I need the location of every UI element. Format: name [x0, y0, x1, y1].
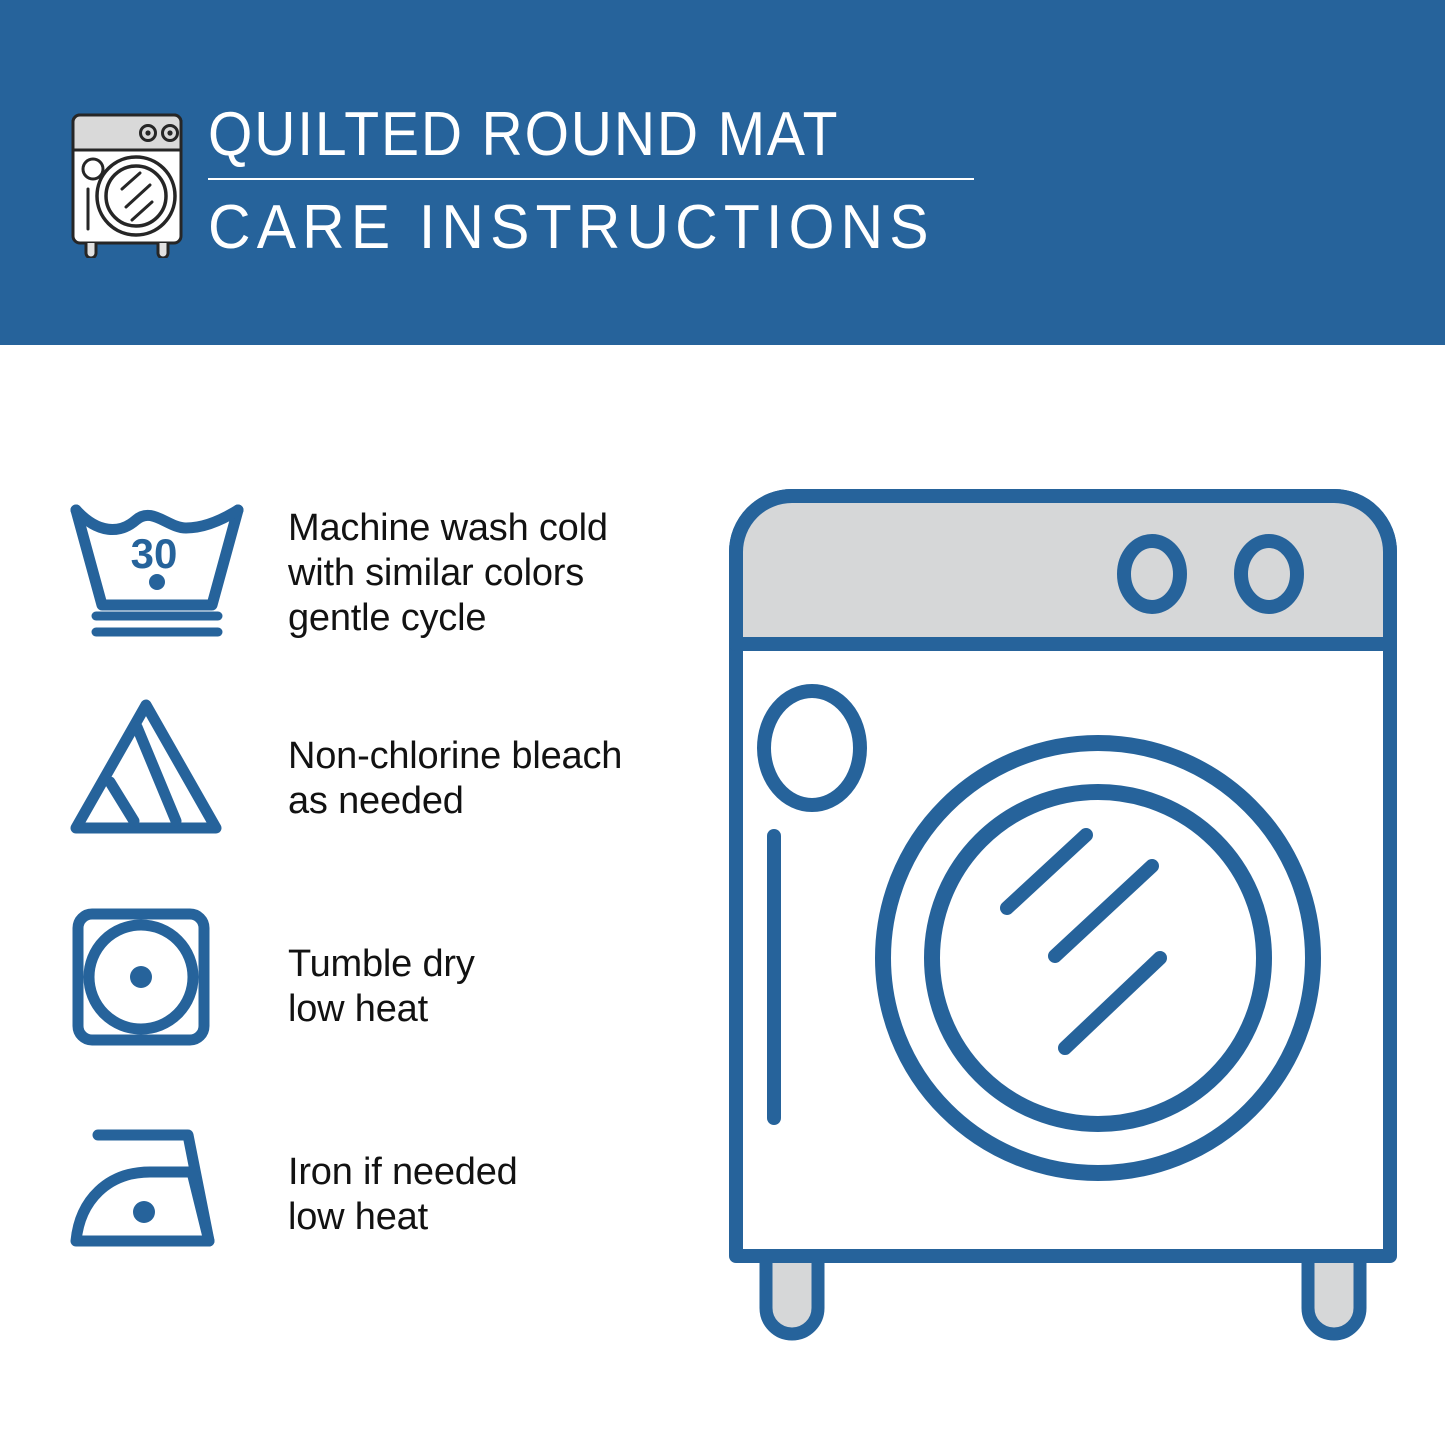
care-label-bleach: Non-chlorine bleach as needed [288, 734, 622, 824]
care-row-tumble-dry: Tumble dry low heat [64, 900, 704, 1108]
header-title-block: QUILTED ROUND MAT CARE INSTRUCTIONS [208, 100, 1008, 264]
front-load-washing-machine-illustration [718, 478, 1408, 1378]
care-instruction-list: 30 Machine wash cold with similar colors… [64, 484, 704, 1316]
care-row-iron: Iron if needed low heat [64, 1108, 704, 1316]
care-instructions-page: QUILTED ROUND MAT CARE INSTRUCTIONS 30 [0, 0, 1445, 1445]
care-label-tumble-dry: Tumble dry low heat [288, 942, 475, 1032]
care-row-machine-wash: 30 Machine wash cold with similar colors… [64, 484, 704, 692]
wash-temperature-label: 30 [131, 530, 178, 577]
iron-low-heat-icon [64, 1108, 250, 1268]
washing-machine-icon [60, 103, 192, 258]
title-divider [208, 178, 974, 180]
non-chlorine-bleach-triangle-icon [64, 692, 250, 852]
page-title: QUILTED ROUND MAT [208, 100, 944, 170]
header-banner: QUILTED ROUND MAT CARE INSTRUCTIONS [0, 0, 1445, 345]
wash-tub-30-gentle-icon: 30 [64, 484, 250, 644]
care-label-iron: Iron if needed low heat [288, 1150, 518, 1240]
care-label-machine-wash: Machine wash cold with similar colors ge… [288, 506, 608, 641]
page-subtitle: CARE INSTRUCTIONS [208, 192, 968, 264]
care-row-bleach: Non-chlorine bleach as needed [64, 692, 704, 900]
tumble-dry-low-icon [64, 900, 250, 1060]
